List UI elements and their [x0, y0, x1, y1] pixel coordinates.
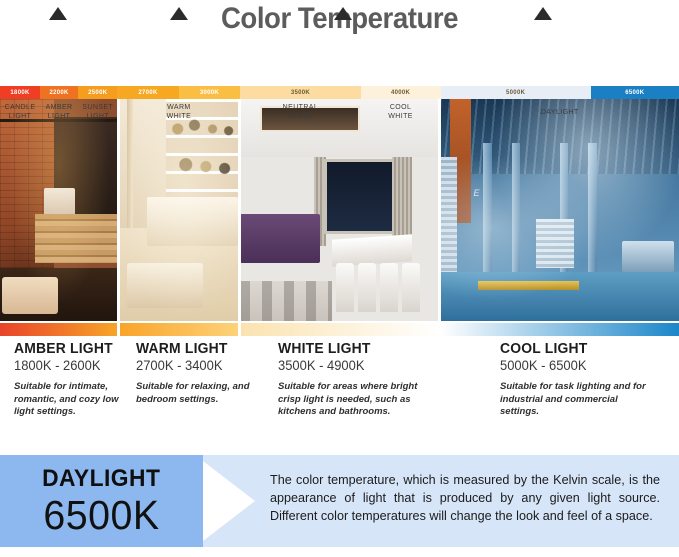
caption-kelvin-range: 1800K - 2600K — [14, 358, 124, 373]
caption-description: Suitable for relaxing, and bedroom setti… — [136, 381, 256, 406]
daylight-banner: DAYLIGHT 6500K The color temperature, wh… — [0, 455, 679, 547]
dining-chair — [336, 263, 354, 312]
dining-chair — [358, 263, 376, 312]
amber-marker-triangle — [49, 7, 67, 20]
window — [324, 159, 396, 234]
caption-white-light: WHITE LIGHT 3500K - 4900K Suitable for a… — [278, 341, 438, 419]
scale-segment-4000k: 4000K — [361, 86, 441, 99]
gradient-bar-row — [0, 323, 679, 336]
caption-heading: WARM LIGHT — [136, 341, 242, 357]
kelvin-scale-bar: 1800K2200K2500K2700K3000K3500K4000K5000K… — [0, 86, 679, 99]
ceiling-coffer — [260, 106, 360, 133]
curtain-right — [392, 157, 412, 246]
scale-segment-3000k: 3000K — [179, 86, 241, 99]
amber-glow-overlay — [0, 99, 117, 321]
caption-kelvin-range: 2700K - 3400K — [136, 358, 242, 373]
caption-description: Suitable for areas where bright crisp li… — [278, 381, 428, 419]
scale-segment-1800k: 1800K — [0, 86, 40, 99]
banner-body-text: The color temperature, which is measured… — [270, 471, 660, 525]
scale-segment-5000k: 5000K — [441, 86, 591, 99]
panel-divider — [438, 99, 441, 321]
area-rug — [240, 281, 332, 321]
dining-chair — [402, 263, 420, 312]
caption-cool-light: COOL LIGHT 5000K - 6500K Suitable for ta… — [500, 341, 660, 419]
caption-kelvin-range: 5000K - 6500K — [500, 358, 654, 373]
cool-marker-triangle — [534, 7, 552, 20]
photo-warm-white-living-room — [117, 99, 240, 321]
photo-neutral-white-living-dining — [240, 99, 440, 321]
warm-marker-triangle — [170, 7, 188, 20]
dining-table — [332, 234, 412, 266]
cool-gradient — [441, 323, 679, 336]
caption-heading: WHITE LIGHT — [278, 341, 432, 357]
caption-heading: AMBER LIGHT — [14, 341, 124, 357]
dining-chair — [380, 263, 398, 312]
scale-segment-6500k: 6500K — [591, 86, 679, 99]
cool-glow-overlay — [440, 99, 679, 321]
white-gradient — [241, 323, 438, 336]
scale-segment-2200k: 2200K — [40, 86, 78, 99]
caption-description: Suitable for task lighting and for indus… — [500, 381, 650, 419]
warm-gradient — [120, 323, 238, 336]
caption-amber-light: AMBER LIGHT 1800K - 2600K Suitable for i… — [14, 341, 129, 419]
photo-row: E — [0, 99, 679, 321]
caption-kelvin-range: 3500K - 4900K — [278, 358, 432, 373]
scale-segment-2500k: 2500K — [78, 86, 117, 99]
warm-glow-overlay — [117, 99, 240, 321]
caption-heading: COOL LIGHT — [500, 341, 654, 357]
photo-cool-blue-industrial-warehouse: E — [440, 99, 679, 321]
scale-segment-2700k: 2700K — [117, 86, 178, 99]
caption-row: AMBER LIGHT 1800K - 2600K Suitable for i… — [0, 341, 679, 441]
purple-sofa — [240, 214, 320, 263]
amber-gradient — [0, 323, 117, 336]
banner-left-panel: DAYLIGHT 6500K — [0, 455, 203, 547]
scale-segment-3500k: 3500K — [240, 86, 360, 99]
daylight-value: 6500K — [43, 493, 159, 537]
photo-amber-brick-cafe-interior — [0, 99, 117, 321]
white-marker-triangle — [334, 7, 352, 20]
panel-divider — [238, 99, 241, 321]
panel-divider — [117, 99, 120, 321]
caption-description: Suitable for intimate, romantic, and coz… — [14, 381, 134, 419]
chevron-right-icon — [203, 455, 261, 547]
daylight-label: DAYLIGHT — [42, 465, 160, 493]
caption-warm-light: WARM LIGHT 2700K - 3400K Suitable for re… — [136, 341, 246, 406]
